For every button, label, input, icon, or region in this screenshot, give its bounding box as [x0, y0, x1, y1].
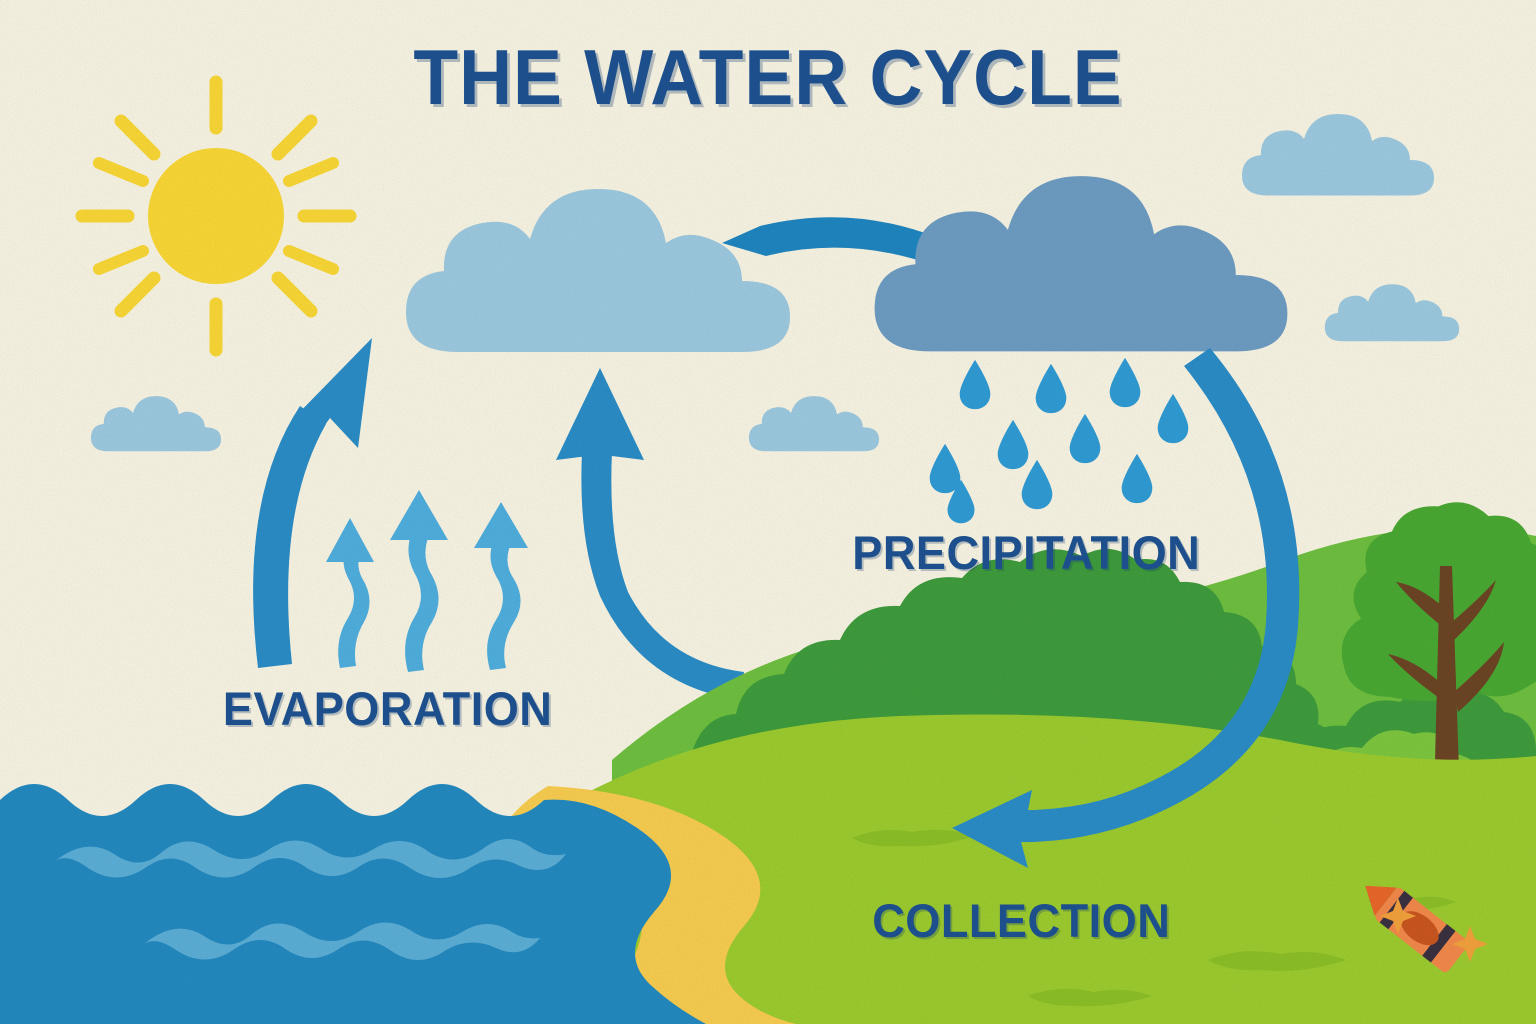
label-precipitation: PRECIPITATION — [852, 525, 1200, 580]
page-title: THE WATER CYCLE — [46, 38, 1490, 116]
label-collection: COLLECTION — [872, 893, 1170, 948]
ocean-water — [0, 784, 706, 1024]
sun-icon — [82, 82, 350, 350]
label-evaporation: EVAPORATION — [223, 681, 553, 736]
water-cycle-poster: THE WATER CYCLE EVAPORATION PRECIPITATIO… — [0, 0, 1536, 1024]
water-cycle-illustration — [0, 0, 1536, 1024]
